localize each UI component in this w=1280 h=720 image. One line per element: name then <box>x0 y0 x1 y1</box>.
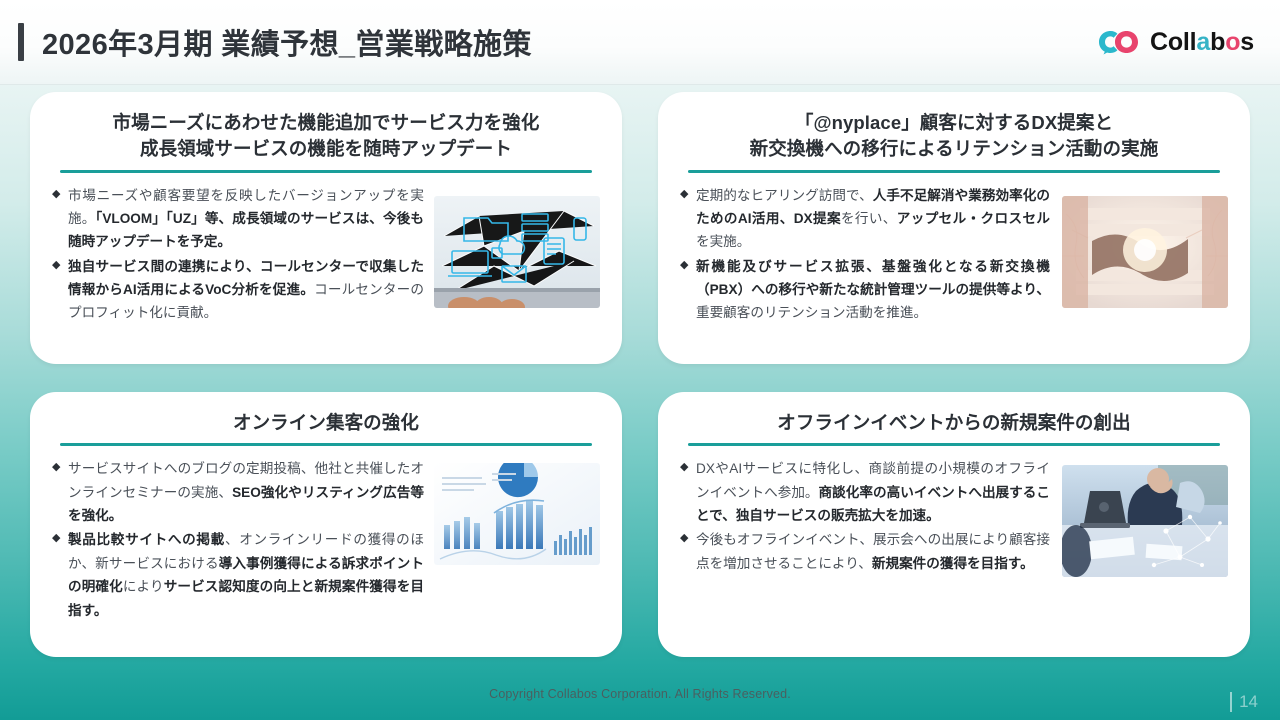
list-item: ◆ サービスサイトへのブログの定期投稿、他社と共催したオンラインセミナーの実施、… <box>52 457 424 527</box>
card-title-rule <box>688 170 1220 173</box>
card-title: オフラインイベントからの新規案件の創出 <box>680 410 1228 436</box>
collabos-logo-mark <box>1097 29 1141 55</box>
strategy-card-online-acquisition: オンライン集客の強化 ◆ サービスサイトへのブログの定期投稿、他社と共催したオン… <box>30 392 622 657</box>
card-header: オンライン集客の強化 <box>52 410 600 446</box>
cloud-network-illustration <box>434 196 600 308</box>
card-title-rule <box>60 443 592 446</box>
bullet-list: ◆ DXやAIサービスに特化し、商談前提の小規模のオフラインイベントへ参加。商談… <box>680 457 1052 643</box>
card-image-cloud-network-tablet <box>434 196 600 308</box>
bullet-text: 定期的なヒアリング訪問で、人手不足解消や業務効率化のためのAI活用、DX提案を行… <box>696 184 1050 254</box>
card-image-business-charts-report <box>434 463 600 565</box>
bullet-text: 独自サービス間の連携により、コールセンターで収集した情報からAI活用によるVoC… <box>68 255 424 325</box>
page-title: 2026年3月期 業績予想_営業戦略施策 <box>42 21 532 63</box>
card-body: ◆ サービスサイトへのブログの定期投稿、他社と共催したオンラインセミナーの実施、… <box>52 457 600 643</box>
bullet-text: DXやAIサービスに特化し、商談前提の小規模のオフラインイベントへ参加。商談化率… <box>696 457 1050 527</box>
list-item: ◆ 今後もオフラインイベント、展示会への出展により顧客接点を増加させることにより… <box>680 528 1050 575</box>
strategy-card-service-enhancement: 市場ニーズにあわせた機能追加でサービス力を強化 成長領域サービスの機能を随時アッ… <box>30 92 622 364</box>
handshake-network-illustration <box>1062 196 1228 308</box>
card-title-line-1: オフラインイベントからの新規案件の創出 <box>680 410 1228 436</box>
list-item: ◆ 定期的なヒアリング訪問で、人手不足解消や業務効率化のためのAI活用、DX提案… <box>680 184 1050 254</box>
title-accent-bar <box>18 23 24 61</box>
diamond-bullet-icon: ◆ <box>52 255 68 325</box>
card-title-line-1: 市場ニーズにあわせた機能追加でサービス力を強化 <box>52 110 600 136</box>
card-title-line-1: 「@nyplace」顧客に対するDX提案と <box>680 110 1228 136</box>
diamond-bullet-icon: ◆ <box>52 528 68 622</box>
diamond-bullet-icon: ◆ <box>680 528 696 575</box>
bullet-text: サービスサイトへのブログの定期投稿、他社と共催したオンラインセミナーの実施、SE… <box>68 457 424 527</box>
list-item: ◆ 新機能及びサービス拡張、基盤強化となる新交換機（PBX）への移行や新たな統計… <box>680 255 1050 325</box>
card-title-line-2: 新交換機への移行によるリテンション活動の実施 <box>680 136 1228 162</box>
bullet-text: 新機能及びサービス拡張、基盤強化となる新交換機（PBX）への移行や新たな統計管理… <box>696 255 1050 325</box>
strategy-card-dx-proposal: 「@nyplace」顧客に対するDX提案と 新交換機への移行によるリテンション活… <box>658 92 1250 364</box>
slide-header: 2026年3月期 業績予想_営業戦略施策 Collabos <box>0 0 1280 85</box>
bullet-text: 今後もオフラインイベント、展示会への出展により顧客接点を増加させることにより、新… <box>696 528 1050 575</box>
list-item: ◆ 製品比較サイトへの掲載、オンラインリードの獲得のほか、新サービスにおける導入… <box>52 528 424 622</box>
page-number-group: 14 <box>1230 692 1258 712</box>
page-number-divider <box>1230 692 1232 712</box>
card-body: ◆ 定期的なヒアリング訪問で、人手不足解消や業務効率化のためのAI活用、DX提案… <box>680 184 1228 350</box>
business-meeting-illustration <box>1062 465 1228 577</box>
card-body: ◆ DXやAIサービスに特化し、商談前提の小規模のオフラインイベントへ参加。商談… <box>680 457 1228 643</box>
list-item: ◆ 独自サービス間の連携により、コールセンターで収集した情報からAI活用によるV… <box>52 255 424 325</box>
list-item: ◆ DXやAIサービスに特化し、商談前提の小規模のオフラインイベントへ参加。商談… <box>680 457 1050 527</box>
card-title-line-1: オンライン集客の強化 <box>52 410 600 436</box>
card-title-rule <box>688 443 1220 446</box>
copyright-text: Copyright Collabos Corporation. All Righ… <box>489 687 791 701</box>
card-body: ◆ 市場ニーズや顧客要望を反映したバージョンアップを実施。「VLOOM」「UZ」… <box>52 184 600 350</box>
list-item: ◆ 市場ニーズや顧客要望を反映したバージョンアップを実施。「VLOOM」「UZ」… <box>52 184 424 254</box>
collabos-logo: Collabos <box>1097 29 1254 55</box>
card-header: 市場ニーズにあわせた機能追加でサービス力を強化 成長領域サービスの機能を随時アッ… <box>52 110 600 173</box>
card-header: 「@nyplace」顧客に対するDX提案と 新交換機への移行によるリテンション活… <box>680 110 1228 173</box>
card-image-handshake-network <box>1062 196 1228 308</box>
charts-report-illustration <box>434 463 600 565</box>
slide: 2026年3月期 業績予想_営業戦略施策 Collabos 市場ニーズにあわせた… <box>0 0 1280 720</box>
card-header: オフラインイベントからの新規案件の創出 <box>680 410 1228 446</box>
strategy-card-grid: 市場ニーズにあわせた機能追加でサービス力を強化 成長領域サービスの機能を随時アッ… <box>30 92 1250 667</box>
bullet-list: ◆ 市場ニーズや顧客要望を反映したバージョンアップを実施。「VLOOM」「UZ」… <box>52 184 424 350</box>
page-number: 14 <box>1239 692 1258 712</box>
diamond-bullet-icon: ◆ <box>52 457 68 527</box>
card-title: オンライン集客の強化 <box>52 410 600 436</box>
bullet-text: 市場ニーズや顧客要望を反映したバージョンアップを実施。「VLOOM」「UZ」等、… <box>68 184 424 254</box>
bullet-list: ◆ サービスサイトへのブログの定期投稿、他社と共催したオンラインセミナーの実施、… <box>52 457 424 643</box>
card-title-line-2: 成長領域サービスの機能を随時アップデート <box>52 136 600 162</box>
card-image-business-meeting-laptop <box>1062 465 1228 577</box>
strategy-card-offline-events: オフラインイベントからの新規案件の創出 ◆ DXやAIサービスに特化し、商談前提… <box>658 392 1250 657</box>
diamond-bullet-icon: ◆ <box>52 184 68 254</box>
bullet-text: 製品比較サイトへの掲載、オンラインリードの獲得のほか、新サービスにおける導入事例… <box>68 528 424 622</box>
card-title-rule <box>60 170 592 173</box>
diamond-bullet-icon: ◆ <box>680 255 696 325</box>
card-title: 「@nyplace」顧客に対するDX提案と 新交換機への移行によるリテンション活… <box>680 110 1228 163</box>
card-title: 市場ニーズにあわせた機能追加でサービス力を強化 成長領域サービスの機能を随時アッ… <box>52 110 600 163</box>
diamond-bullet-icon: ◆ <box>680 184 696 254</box>
collabos-logo-text: Collabos <box>1150 30 1254 55</box>
slide-footer: Copyright Collabos Corporation. All Righ… <box>0 668 1280 720</box>
bullet-list: ◆ 定期的なヒアリング訪問で、人手不足解消や業務効率化のためのAI活用、DX提案… <box>680 184 1052 350</box>
diamond-bullet-icon: ◆ <box>680 457 696 527</box>
